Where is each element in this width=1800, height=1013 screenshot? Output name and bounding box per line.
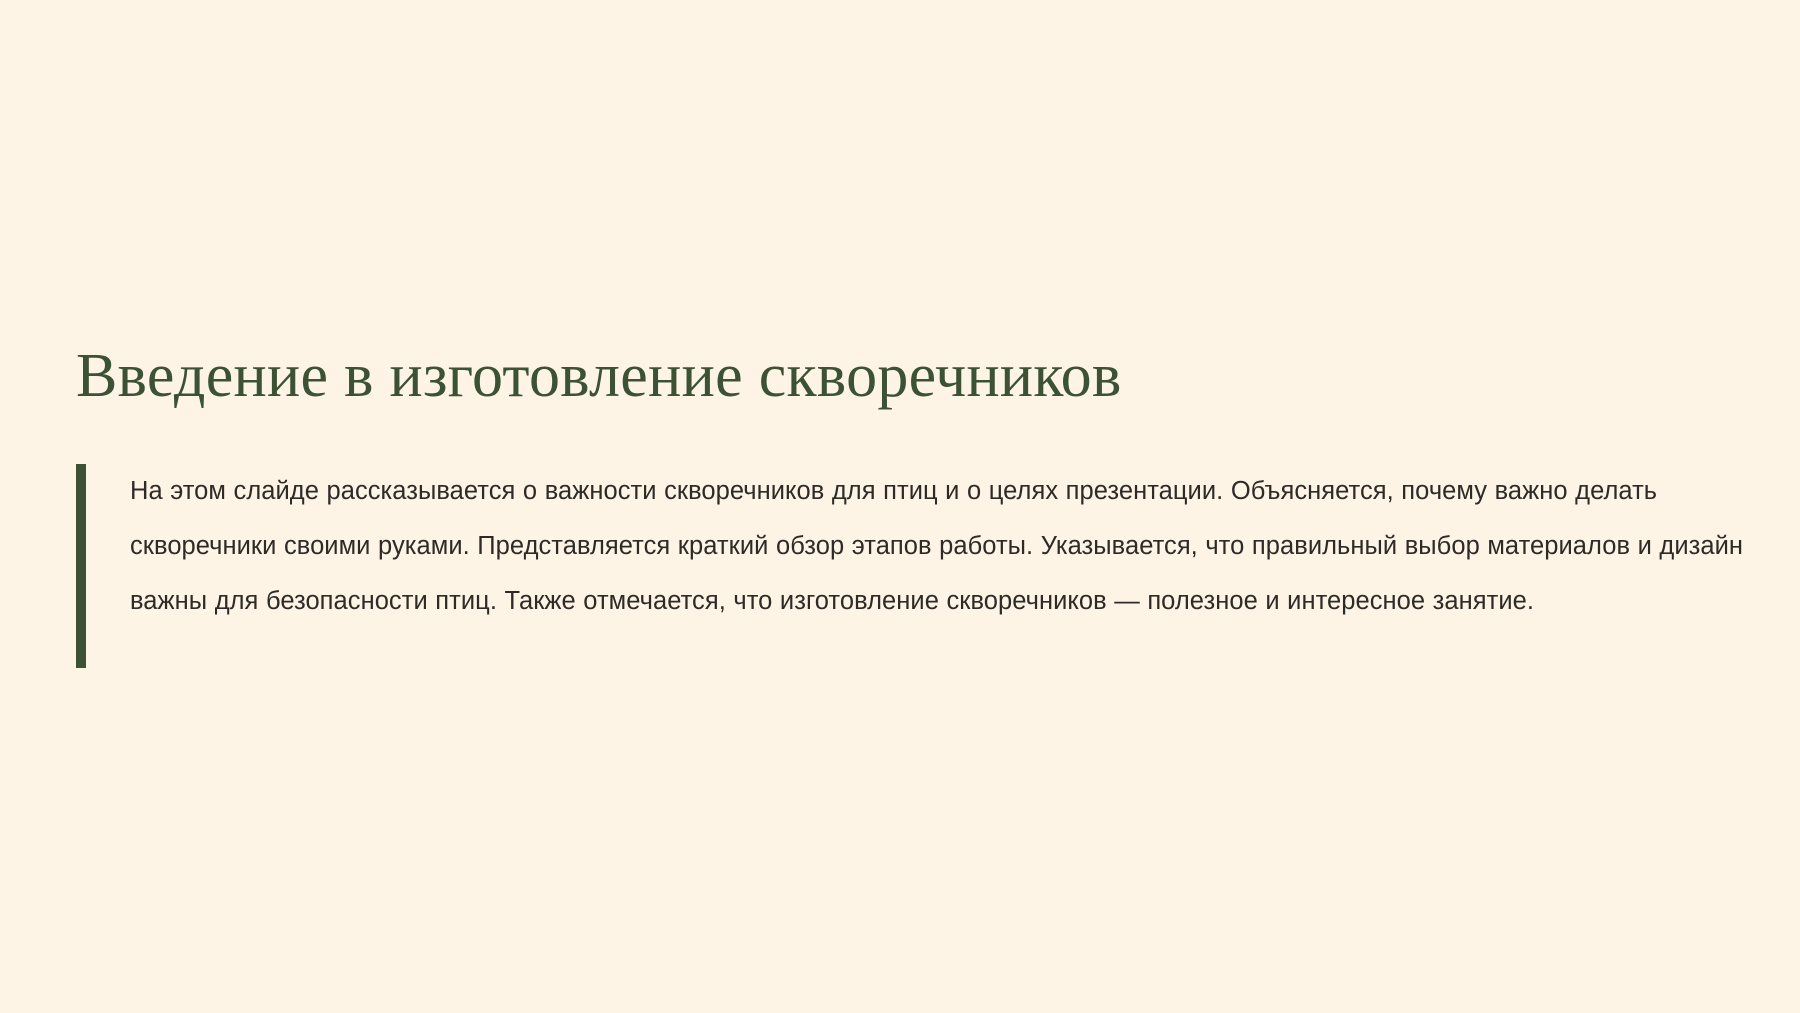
page-title: Введение в изготовление скворечников: [76, 344, 1716, 408]
slide-canvas: Введение в изготовление скворечников На …: [0, 0, 1800, 1013]
accent-bar: [76, 464, 86, 668]
body-callout: На этом слайде рассказывается о важности…: [76, 464, 1756, 668]
body-paragraph: На этом слайде рассказывается о важности…: [130, 464, 1745, 629]
body-text-container: На этом слайде рассказывается о важности…: [86, 464, 1756, 668]
